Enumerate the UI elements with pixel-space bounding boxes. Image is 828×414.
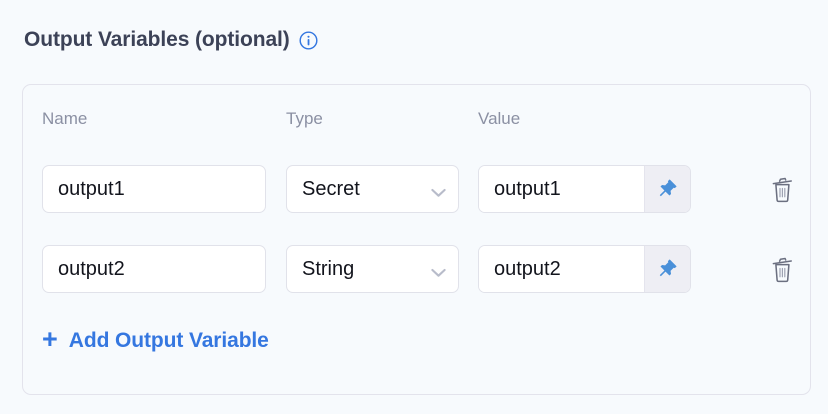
variable-value-group — [478, 165, 691, 213]
pushpin-icon[interactable] — [644, 246, 690, 292]
variable-value-group — [478, 245, 691, 293]
table-row: SecretString — [23, 245, 810, 293]
section-title-row: Output Variables (optional) — [24, 27, 318, 53]
info-circle-icon[interactable] — [299, 31, 318, 50]
table-row: SecretString — [23, 165, 810, 213]
column-header-name: Name — [42, 108, 87, 130]
add-output-variable-label: Add Output Variable — [69, 327, 269, 354]
variable-value-input[interactable] — [479, 246, 644, 292]
output-variables-section: Output Variables (optional) Name Type Va… — [0, 0, 828, 414]
trash-icon[interactable] — [761, 165, 803, 213]
plus-icon: + — [42, 326, 58, 353]
pushpin-icon[interactable] — [644, 166, 690, 212]
variable-name-input[interactable] — [42, 165, 266, 213]
column-header-type: Type — [286, 108, 323, 130]
column-header-value: Value — [478, 108, 520, 130]
table-header-row: Name Type Value — [23, 108, 810, 130]
variable-type-select-wrapper: SecretString — [286, 245, 459, 293]
trash-icon[interactable] — [761, 245, 803, 293]
variable-name-input[interactable] — [42, 245, 266, 293]
page-title: Output Variables (optional) — [24, 27, 290, 53]
variable-value-input[interactable] — [479, 166, 644, 212]
variable-type-select[interactable]: SecretString — [286, 245, 459, 293]
add-output-variable-button[interactable]: + Add Output Variable — [42, 327, 269, 354]
variable-type-select[interactable]: SecretString — [286, 165, 459, 213]
output-variables-card: Name Type Value SecretString — [22, 84, 811, 395]
variable-type-select-wrapper: SecretString — [286, 165, 459, 213]
